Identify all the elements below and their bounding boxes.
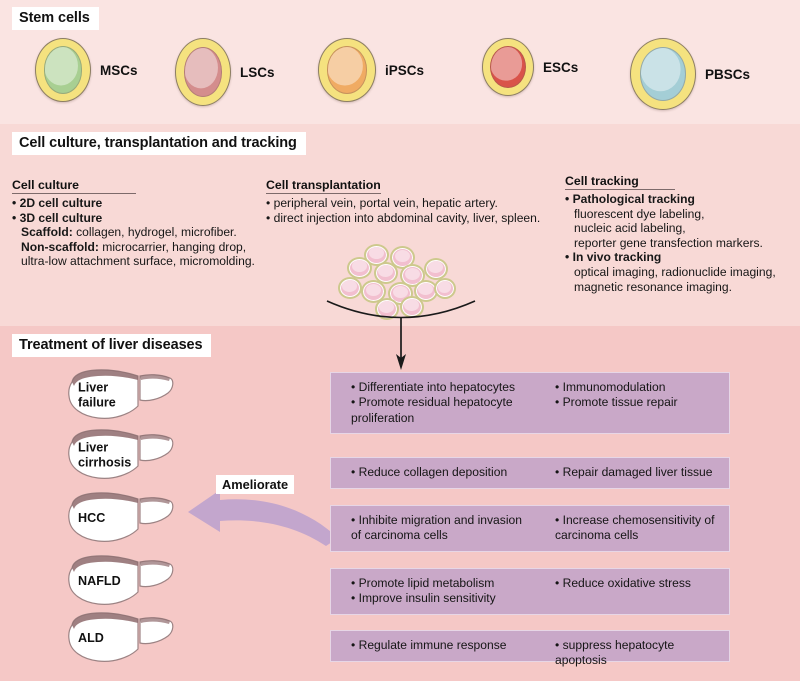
effect-line: • Promote lipid metabolism	[341, 576, 541, 591]
cell-icon-msc	[35, 38, 91, 102]
transplantation-route-injection: • direct injection into abdominal cavity…	[266, 211, 540, 226]
ameliorate-label: Ameliorate	[216, 475, 294, 494]
liver-item-liver-failure: Liver failure	[60, 366, 180, 424]
tracking-invivo-title: • In vivo tracking	[565, 250, 776, 265]
tracking-pathological-item-2: nucleic acid labeling,	[565, 221, 776, 236]
ameliorate-arrow-icon	[186, 488, 338, 546]
liver-disease-column: Liver failure Liver cirrhosis HCC	[60, 366, 180, 666]
section-title-stem-cells: Stem cells	[12, 7, 99, 30]
effect-line: • Reduce oxidative stress	[545, 576, 729, 591]
cell-icon-ipsc	[318, 38, 376, 102]
tracking-invivo-item-2: magnetic resonance imaging.	[565, 280, 776, 295]
flow-arrow-down-icon	[386, 318, 416, 370]
effect-line: • Immunomodulation	[545, 380, 729, 395]
cell-culture-line-nonscaffold: Non-scaffold: microcarrier, hanging drop…	[12, 240, 255, 255]
effect-col-left: • Differentiate into hepatocytes • Promo…	[331, 380, 541, 426]
transplantation-route-vascular: • peripheral vein, portal vein, hepatic …	[266, 196, 540, 211]
liver-label-nafld: NAFLD	[78, 574, 121, 589]
stem-cell-pbsc: PBSCs	[630, 38, 750, 110]
tracking-pathological-title: • Pathological tracking	[565, 192, 776, 207]
stem-cell-ipsc: iPSCs	[318, 38, 424, 102]
cell-culture-line-scaffold: Scaffold: collagen, hydrogel, microfiber…	[12, 225, 255, 240]
scaffold-keyword: Scaffold:	[21, 225, 73, 239]
section-title-treatment: Treatment of liver diseases	[12, 334, 211, 357]
cell-culture-block: Cell culture • 2D cell culture • 3D cell…	[12, 176, 255, 269]
effect-line: • Repair damaged liver tissue	[545, 465, 729, 480]
effect-col-right: • Increase chemosensitivity of carcinoma…	[541, 513, 729, 544]
effect-line: • Promote residual hepatocyte	[341, 395, 541, 410]
cell-core-pbsc	[640, 47, 686, 100]
liver-label-hcc: HCC	[78, 511, 105, 526]
effect-line: proliferation	[341, 411, 541, 426]
stem-cell-lsc: LSCs	[175, 38, 275, 106]
stem-cell-esc: ESCs	[482, 38, 578, 96]
cell-culture-heading: Cell culture	[12, 178, 136, 194]
effect-col-left: • Regulate immune response	[331, 638, 541, 654]
effect-box-ald: • Regulate immune response • suppress he…	[330, 630, 730, 662]
cluster-cell	[338, 277, 362, 299]
effect-line: • Increase chemosensitivity of	[545, 513, 729, 528]
effect-line: carcinoma cells	[545, 528, 729, 543]
tracking-invivo-item-1: optical imaging, radionuclide imaging,	[565, 265, 776, 280]
effect-col-right: • suppress hepatocyte apoptosis	[541, 638, 729, 654]
cell-core-msc	[44, 46, 83, 93]
figure-root: Stem cells Cell culture, transplantation…	[0, 0, 800, 681]
liver-item-ald: ALD	[60, 609, 180, 667]
liver-item-nafld: NAFLD	[60, 552, 180, 610]
cluster-cell	[424, 258, 448, 280]
effect-box-hcc: • Inhibite migration and invasion of car…	[330, 505, 730, 552]
nonscaffold-keyword: Non-scaffold:	[21, 240, 99, 254]
stem-cell-label-ipsc: iPSCs	[385, 63, 424, 78]
cluster-cell	[434, 278, 456, 299]
cell-core-ipsc	[327, 46, 367, 93]
liver-label-liver-failure: Liver failure	[78, 381, 116, 410]
effect-line: • Reduce collagen deposition	[341, 465, 541, 480]
effect-line: • Promote tissue repair	[545, 395, 729, 410]
cell-core-lsc	[184, 47, 223, 97]
effect-col-right: • Repair damaged liver tissue	[541, 465, 729, 481]
cell-tracking-block: Cell tracking • Pathological tracking fl…	[565, 172, 776, 294]
cell-culture-line-nonscaffold-cont: ultra-low attachment surface, micromoldi…	[12, 254, 255, 269]
cell-culture-line-3d: • 3D cell culture	[12, 211, 255, 226]
effect-line: of carcinoma cells	[341, 528, 541, 543]
stem-cell-label-pbsc: PBSCs	[705, 67, 750, 82]
cell-culture-line-2d: • 2D cell culture	[12, 196, 255, 211]
effect-box-liver-cirrhosis: • Reduce collagen deposition • Repair da…	[330, 457, 730, 489]
cell-icon-pbsc	[630, 38, 696, 110]
cell-icon-lsc	[175, 38, 231, 106]
effect-col-left: • Inhibite migration and invasion of car…	[331, 513, 541, 544]
cell-tracking-heading: Cell tracking	[565, 174, 675, 190]
effect-box-liver-failure: • Differentiate into hepatocytes • Promo…	[330, 372, 730, 434]
liver-item-liver-cirrhosis: Liver cirrhosis	[60, 426, 180, 484]
effect-line: • Differentiate into hepatocytes	[341, 380, 541, 395]
effect-box-nafld: • Promote lipid metabolism • Improve ins…	[330, 568, 730, 615]
effect-line: • Inhibite migration and invasion	[341, 513, 541, 528]
cell-icon-esc	[482, 38, 534, 96]
liver-label-liver-cirrhosis: Liver cirrhosis	[78, 441, 131, 470]
cell-core-esc	[490, 46, 526, 89]
effect-col-left: • Promote lipid metabolism • Improve ins…	[331, 576, 541, 607]
liver-item-hcc: HCC	[60, 489, 180, 547]
effect-col-right: • Reduce oxidative stress	[541, 576, 729, 607]
effect-col-right: • Immunomodulation • Promote tissue repa…	[541, 380, 729, 426]
scaffold-detail: collagen, hydrogel, microfiber.	[73, 225, 237, 239]
stem-cell-row: MSCs LSCs iPSCs ESCs PBSCs	[0, 38, 800, 114]
cluster-cell	[347, 257, 372, 279]
stem-cell-label-msc: MSCs	[100, 63, 138, 78]
effect-line: • Regulate immune response	[341, 638, 541, 653]
stem-cell-label-esc: ESCs	[543, 60, 578, 75]
tracking-pathological-item-1: fluorescent dye labeling,	[565, 207, 776, 222]
nonscaffold-detail: microcarrier, hanging drop,	[99, 240, 246, 254]
stem-cell-label-lsc: LSCs	[240, 65, 275, 80]
tracking-pathological-item-3: reporter gene transfection markers.	[565, 236, 776, 251]
cell-transplantation-heading: Cell transplantation	[266, 178, 381, 194]
effect-col-left: • Reduce collagen deposition	[331, 465, 541, 481]
effect-line: • Improve insulin sensitivity	[341, 591, 541, 606]
section-title-cell-culture: Cell culture, transplantation and tracki…	[12, 132, 306, 155]
cell-transplantation-block: Cell transplantation • peripheral vein, …	[266, 176, 540, 225]
liver-label-ald: ALD	[78, 631, 104, 646]
stem-cell-msc: MSCs	[35, 38, 138, 102]
effect-line: • suppress hepatocyte apoptosis	[545, 638, 729, 669]
